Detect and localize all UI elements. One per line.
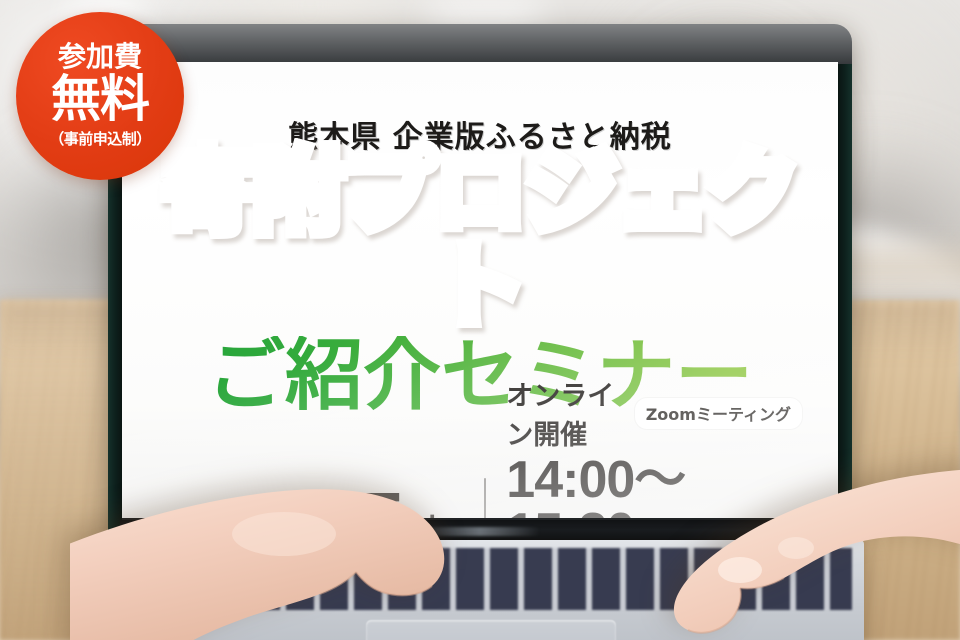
event-weekday: [木] — [402, 505, 462, 518]
info-divider — [484, 478, 486, 518]
event-format-label: オンライン開催 — [506, 374, 625, 452]
event-day: 1/15 — [254, 487, 402, 518]
event-time-range: 14:00〜15:30 — [506, 454, 802, 518]
badge-line-1: 参加費 — [58, 43, 142, 71]
event-date: 2026/ 1/15 [木] — [174, 487, 484, 518]
title-line-1: 寄附プロジェクト — [122, 146, 838, 334]
laptop-brand-logo — [420, 527, 540, 536]
laptop-bezel-right — [838, 64, 852, 534]
laptop: 熊本県 企業版ふるさと納税 寄附プロジェクト ご紹介セミナー 2026/ 1/1… — [108, 24, 852, 564]
event-format-row: オンライン開催 Zoomミーティング — [506, 374, 802, 452]
seminar-banner: 熊本県 企業版ふるさと納税 寄附プロジェクト ご紹介セミナー 2026/ 1/1… — [0, 0, 960, 640]
event-year: 2026/ — [174, 513, 254, 518]
free-admission-badge: 参加費 無料 （事前申込制） — [16, 12, 184, 180]
event-time: オンライン開催 Zoomミーティング 14:00〜15:30 — [506, 374, 802, 518]
laptop-trackpad — [366, 620, 616, 640]
laptop-screen: 熊本県 企業版ふるさと納税 寄附プロジェクト ご紹介セミナー 2026/ 1/1… — [122, 62, 838, 518]
event-info-row: 2026/ 1/15 [木] オンライン開催 Zoomミーティング 14:00〜… — [174, 374, 802, 518]
badge-line-2: 無料 — [51, 74, 149, 125]
laptop-keys — [116, 548, 852, 610]
badge-line-3: （事前申込制） — [49, 128, 151, 149]
platform-badge: Zoomミーティング — [635, 398, 802, 429]
screen-content: 熊本県 企業版ふるさと納税 寄附プロジェクト ご紹介セミナー 2026/ 1/1… — [122, 62, 838, 518]
